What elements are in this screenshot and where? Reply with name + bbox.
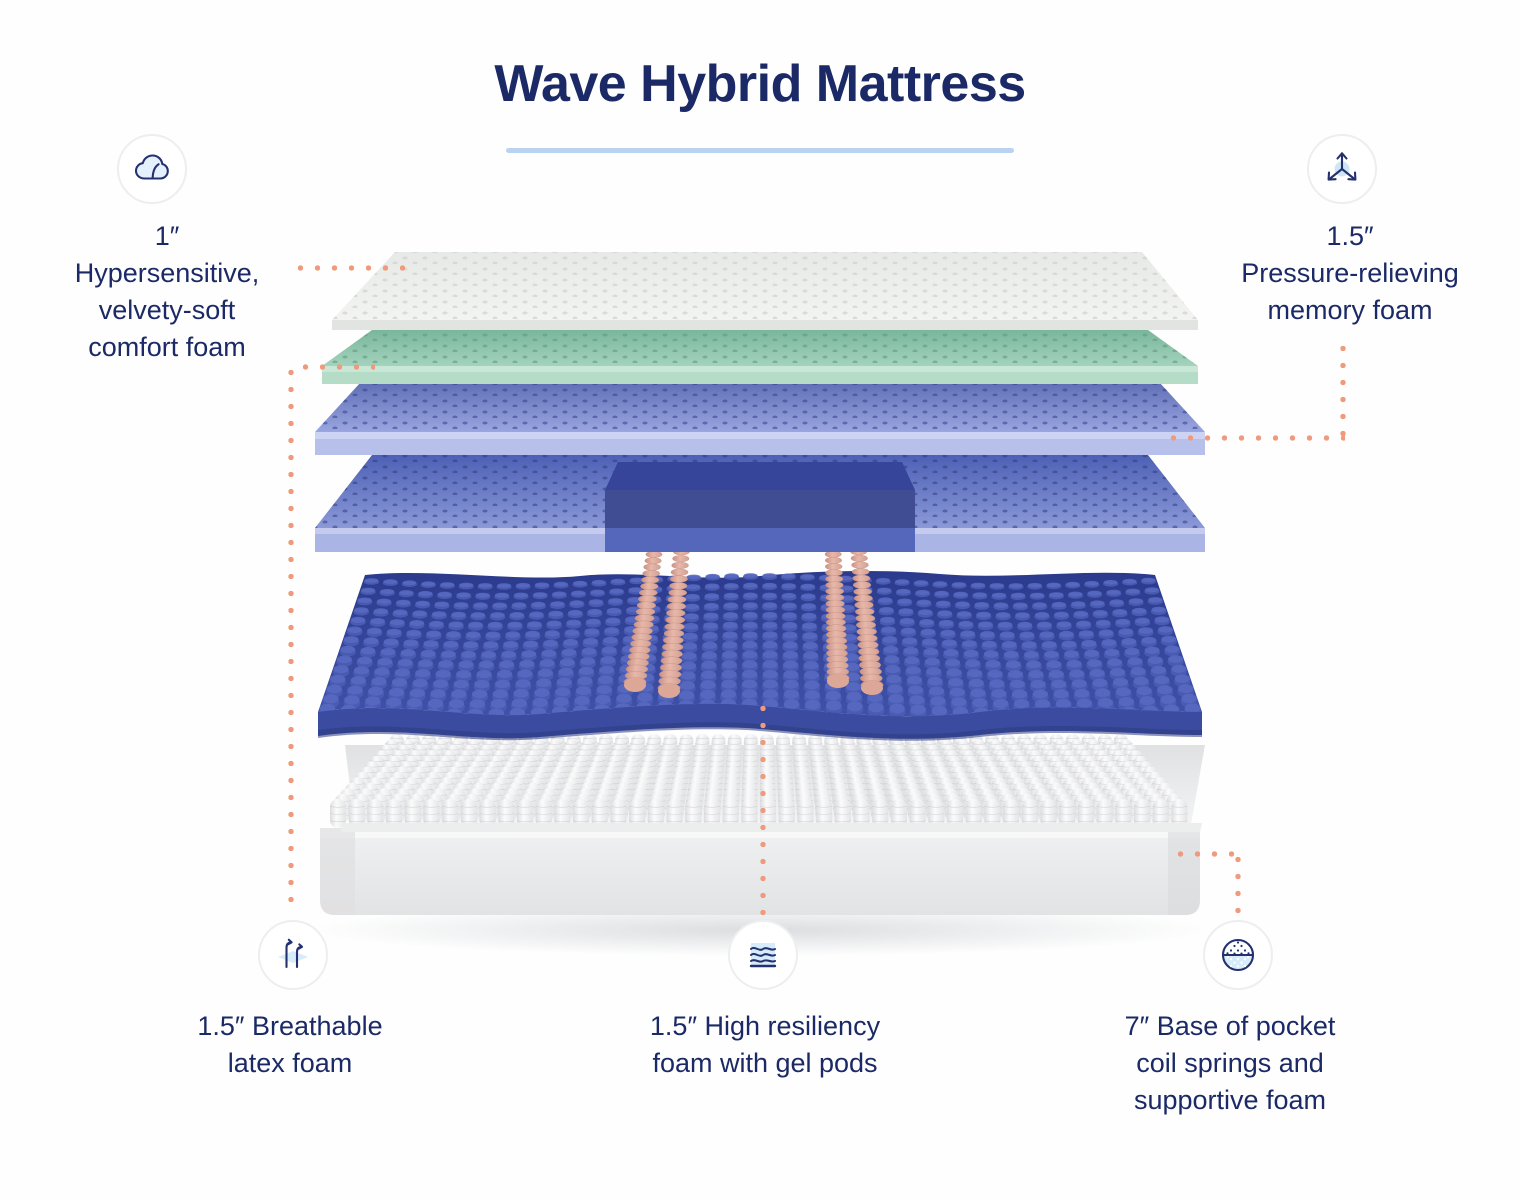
- label-comfort-foam: 1″ Hypersensitive, velvety-soft comfort …: [12, 218, 322, 366]
- label-latex-foam: 1.5″ Breathable latex foam: [135, 1008, 445, 1082]
- pocket-coil-icon: [1203, 920, 1273, 990]
- layer-comfort-foam: [332, 252, 1198, 330]
- label-high-resiliency-foam: 1.5″ High resiliency foam with gel pods: [605, 1008, 925, 1082]
- label-pocket-coil-line1: 7″ Base of pocket: [1125, 1011, 1336, 1041]
- layer-memory-foam: [322, 330, 1198, 384]
- label-comfort-foam-line3: comfort foam: [88, 332, 246, 362]
- label-high-resiliency-line1: 1.5″ High resiliency: [650, 1011, 880, 1041]
- connector-latex-vertical: [288, 364, 294, 912]
- label-latex-foam-line2: latex foam: [228, 1048, 353, 1078]
- connector-gelpods-vertical: [760, 700, 766, 915]
- label-comfort-foam-line1: Hypersensitive,: [75, 258, 260, 288]
- connector-memory-vertical: [1340, 340, 1346, 440]
- label-comfort-foam-line2: velvety-soft: [99, 295, 236, 325]
- label-memory-foam-line1: Pressure-relieving: [1241, 258, 1459, 288]
- label-pocket-coil-line2: coil springs and: [1136, 1048, 1324, 1078]
- label-pocket-coil-line3: supportive foam: [1134, 1085, 1326, 1115]
- wave-lines-icon: [728, 920, 798, 990]
- cloud-icon: [117, 134, 187, 204]
- label-high-resiliency-line2: foam with gel pods: [652, 1048, 877, 1078]
- connector-base-vertical: [1235, 851, 1241, 917]
- connector-base-horizontal: [1172, 851, 1240, 857]
- layer-high-resiliency-foam: [315, 455, 1205, 552]
- label-memory-foam-line2: memory foam: [1267, 295, 1432, 325]
- label-memory-foam-size: 1.5″: [1195, 218, 1505, 255]
- infographic-root: Wave Hybrid Mattress: [0, 0, 1520, 1200]
- breathability-arrows-icon: [258, 920, 328, 990]
- pressure-arrows-icon: [1307, 134, 1377, 204]
- label-memory-foam: 1.5″ Pressure-relieving memory foam: [1195, 218, 1505, 329]
- label-pocket-coil-base: 7″ Base of pocket coil springs and suppo…: [1075, 1008, 1385, 1119]
- label-latex-foam-line1: 1.5″ Breathable: [197, 1011, 382, 1041]
- label-comfort-foam-size: 1″: [12, 218, 322, 255]
- connector-memory-horizontal: [1165, 435, 1345, 441]
